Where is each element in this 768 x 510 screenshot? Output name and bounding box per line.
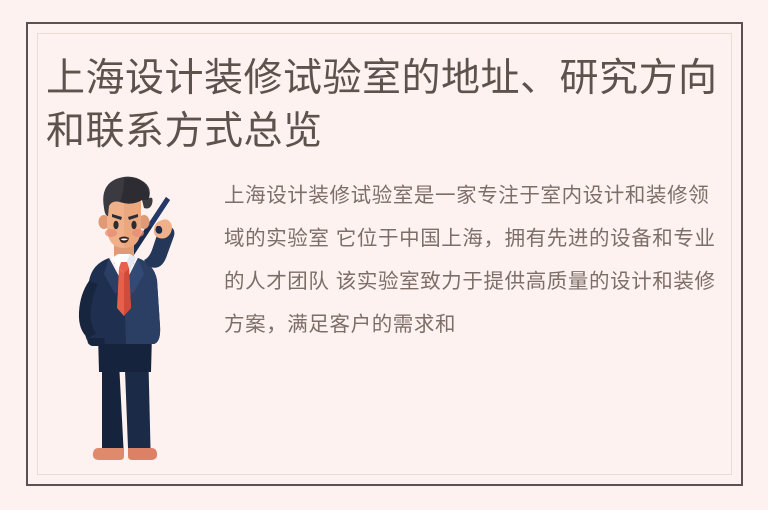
left-shoe (93, 448, 124, 460)
businessman-with-pointer-illustration (62, 176, 186, 476)
article-card: 上海设计装修试验室的地址、研究方向和联系方式总览 (26, 22, 743, 486)
right-eye (131, 221, 136, 229)
left-cheek (105, 229, 117, 237)
right-shoe (128, 448, 157, 460)
page-title: 上海设计装修试验室的地址、研究方向和联系方式总览 (46, 52, 718, 158)
article-body: 上海设计装修试验室是一家专注于室内设计和装修领域的实验室 它位于中国上海，拥有先… (224, 174, 730, 346)
right-cheek (132, 229, 144, 237)
left-eye (113, 221, 118, 229)
content-row: 上海设计装修试验室是一家专注于室内设计和装修领域的实验室 它位于中国上海，拥有先… (28, 164, 741, 474)
